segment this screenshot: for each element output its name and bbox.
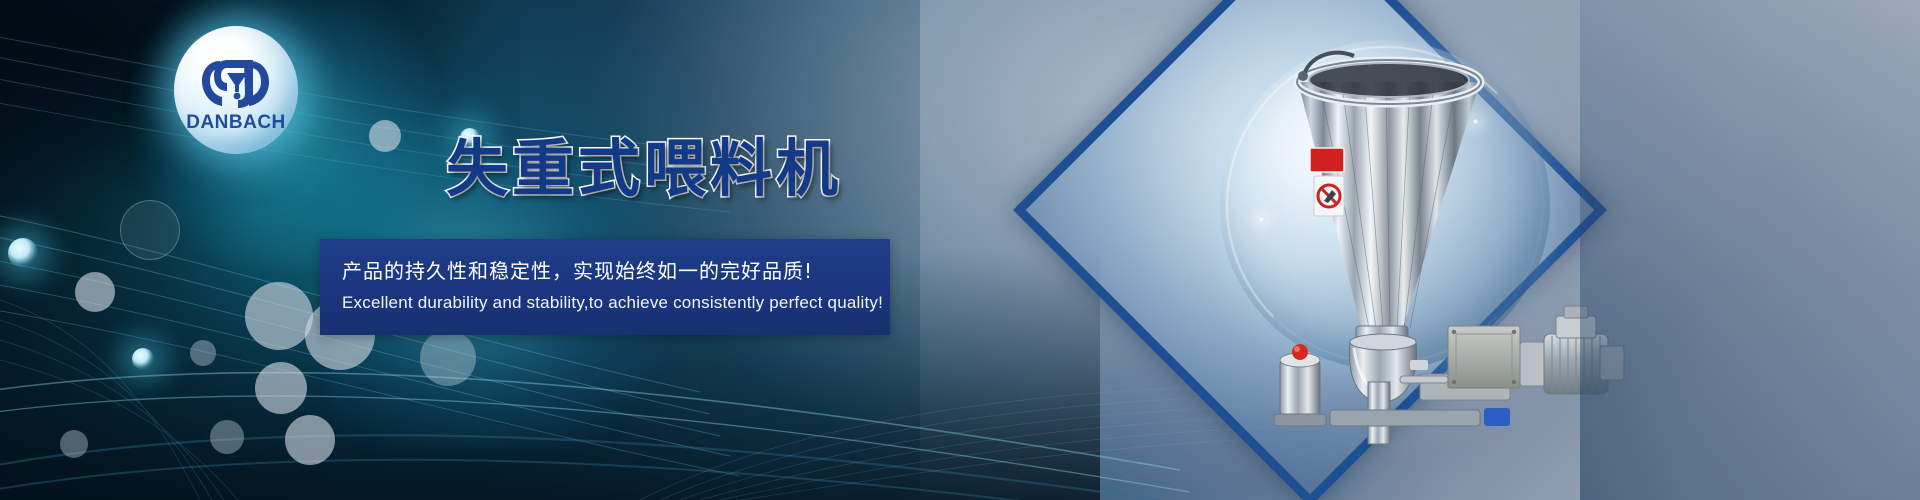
- background-right-corner: [1580, 0, 1920, 500]
- bubble-3: [190, 340, 216, 366]
- blue-foot-block: [1484, 408, 1510, 426]
- bubble-1: [75, 272, 115, 312]
- caption-english: Excellent durability and stability,to ac…: [342, 293, 883, 313]
- caption-chinese: 产品的持久性和稳定性，实现始终如一的完好品质!: [342, 255, 813, 284]
- bubble-10: [285, 415, 335, 465]
- danbach-monogram-icon: [200, 56, 272, 110]
- bubble-11: [210, 420, 244, 454]
- brand-wordmark: DANBACH: [174, 112, 298, 134]
- bubble-9: [420, 330, 476, 386]
- bubble-4: [255, 362, 307, 414]
- page-title: 失重式喂料机: [446, 118, 842, 208]
- bubble-2: [245, 282, 313, 350]
- bubble-glow-1: [8, 238, 38, 268]
- bubble-5: [369, 120, 401, 152]
- warning-labels: [1310, 148, 1344, 216]
- product-image: [1270, 30, 1630, 450]
- bubble-ring-1: [120, 200, 180, 260]
- promo-banner: DANBACH 失重式喂料机 产品的持久性和稳定性，实现始终如一的完好品质! E…: [0, 0, 1920, 500]
- brand-logo[interactable]: DANBACH: [174, 26, 298, 154]
- sparkle-icon-3: [1258, 216, 1265, 223]
- bubble-glow-2: [132, 348, 154, 370]
- bubble-12: [60, 430, 88, 458]
- gearbox: [1448, 326, 1520, 388]
- caption-panel: 产品的持久性和稳定性，实现始终如一的完好品质! Excellent durabi…: [320, 239, 890, 335]
